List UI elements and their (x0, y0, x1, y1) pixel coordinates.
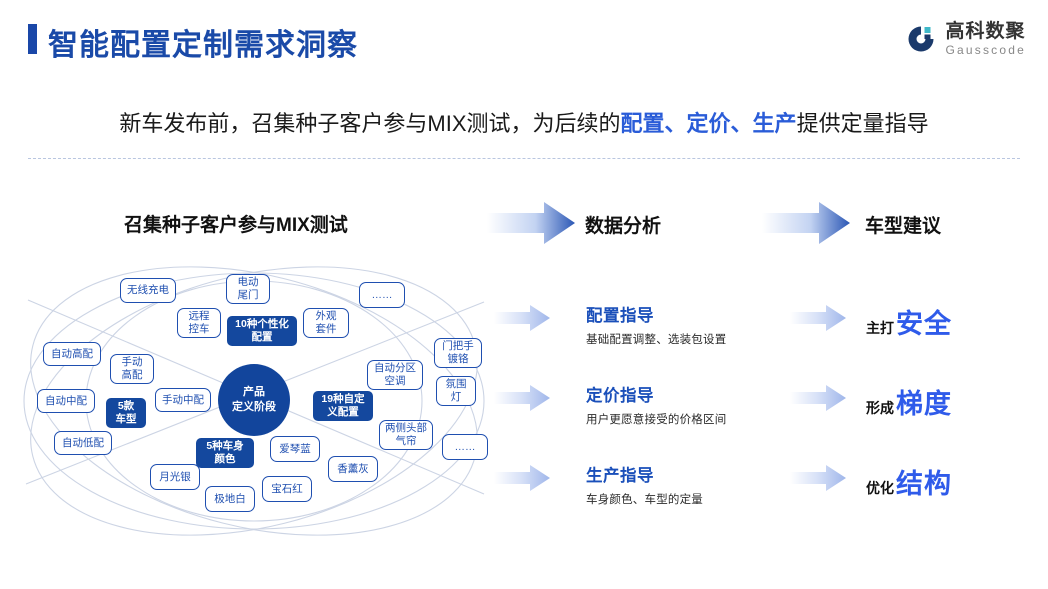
mindmap-node: 自动低配 (54, 431, 112, 455)
result-prefix-0: 主打 (866, 320, 894, 336)
mindmap-node: 宝石红 (262, 476, 312, 502)
mindmap-node: 爱琴蓝 (270, 436, 320, 462)
result-keyword-2: 结构 (896, 469, 952, 499)
column-header-left: 召集种子客户参与MIX测试 (124, 210, 348, 237)
result-prefix-1: 形成 (866, 400, 894, 416)
brand-logo: 高科数聚 Gausscode (905, 22, 1026, 56)
subtitle-part1: 新车发布前，召集种子客户参与MIX测试，为后续的 (119, 111, 620, 136)
mindmap-node: 5种车身 颜色 (196, 438, 254, 468)
result-prefix-2: 优化 (866, 480, 894, 496)
result-keyword-1: 梯度 (896, 389, 952, 419)
mindmap-center-node: 产品 定义阶段 (218, 364, 290, 436)
subtitle-highlight: 配置、定价、生产 (621, 111, 797, 136)
title-accent-bar (28, 24, 37, 54)
page-header: 智能配置定制需求洞察 高科数聚 Gausscode (0, 0, 1048, 80)
mindmap-node: 电动 尾门 (226, 274, 270, 304)
mindmap-node: 香薰灰 (328, 456, 378, 482)
mindmap-node: 外观 套件 (303, 308, 349, 338)
row-arrow-right-1-icon (790, 385, 846, 411)
row-arrow-right-2-icon (790, 465, 846, 491)
row-arrow-left-0-icon (494, 305, 550, 331)
flow-arrow-head-2-icon (762, 202, 850, 244)
column-header-right: 车型建议 (865, 211, 941, 238)
mindmap-node: 门把手 镀铬 (434, 338, 482, 368)
result-row-2: 优化结构 (866, 462, 952, 501)
mindmap-node: …… (442, 434, 488, 460)
mindmap-node: 自动高配 (43, 342, 101, 366)
insight-row-2: 生产指导 车身颜色、车型的定量 (586, 462, 703, 507)
insight-sub-1: 用户更愿意接受的价格区间 (586, 411, 726, 427)
mindmap-node: 自动分区 空调 (367, 360, 423, 390)
flow-arrow-head-1-icon (487, 202, 575, 244)
result-keyword-0: 安全 (896, 309, 952, 339)
mindmap-node: 19种自定 义配置 (313, 391, 373, 421)
result-row-0: 主打安全 (866, 302, 952, 341)
page-title: 智能配置定制需求洞察 (48, 20, 358, 64)
logo-text-cn: 高科数聚 (945, 22, 1026, 41)
insight-sub-0: 基础配置调整、选装包设置 (586, 331, 726, 347)
insight-title-2: 生产指导 (586, 462, 703, 486)
mindmap-node: 远程 控车 (177, 308, 221, 338)
logo-text-en: Gausscode (945, 44, 1026, 56)
result-row-1: 形成梯度 (866, 382, 952, 421)
mindmap-node: 月光银 (150, 464, 200, 490)
subtitle-part2: 提供定量指导 (797, 111, 929, 136)
mindmap-node: 5款 车型 (106, 398, 146, 428)
mindmap-node: 自动中配 (37, 389, 95, 413)
mindmap-node: 10种个性化 配置 (227, 316, 297, 346)
mindmap-node: 手动中配 (155, 388, 211, 412)
insight-row-1: 定价指导 用户更愿意接受的价格区间 (586, 382, 726, 427)
mindmap-node: 两侧头部 气帘 (379, 420, 433, 450)
gausscode-logo-mark-icon (905, 23, 937, 55)
mindmap-node: 手动 高配 (110, 354, 154, 384)
row-arrow-left-1-icon (494, 385, 550, 411)
mindmap-node: 无线充电 (120, 278, 176, 303)
column-header-mid: 数据分析 (585, 211, 661, 238)
section-divider (28, 158, 1020, 159)
row-arrow-left-2-icon (494, 465, 550, 491)
subtitle: 新车发布前，召集种子客户参与MIX测试，为后续的配置、定价、生产提供定量指导 (0, 106, 1048, 138)
insight-title-0: 配置指导 (586, 302, 726, 326)
insight-title-1: 定价指导 (586, 382, 726, 406)
insight-row-0: 配置指导 基础配置调整、选装包设置 (586, 302, 726, 347)
row-arrow-right-0-icon (790, 305, 846, 331)
mindmap-node: 极地白 (205, 486, 255, 512)
mindmap-node: 氛围 灯 (436, 376, 476, 406)
mix-test-mindmap: 产品 定义阶段 无线充电电动 尾门……远程 控车10种个性化 配置外观 套件门把… (14, 256, 494, 546)
insight-sub-2: 车身颜色、车型的定量 (586, 491, 703, 507)
mindmap-node: …… (359, 282, 405, 308)
